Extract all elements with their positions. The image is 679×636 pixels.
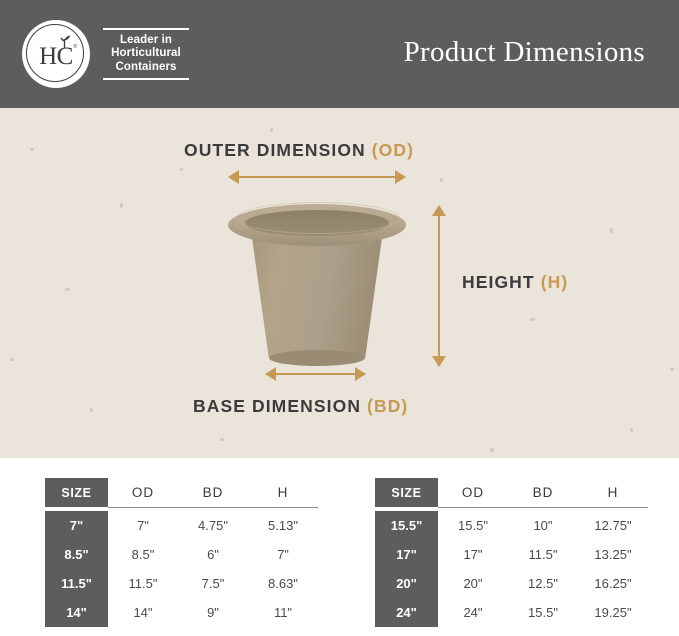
cell-h: 7"	[248, 540, 318, 569]
outer-dimension-text: OUTER DIMENSION	[184, 140, 372, 160]
table-row: 8.5" 8.5" 6" 7"	[45, 540, 318, 569]
cell-h: 8.63"	[248, 569, 318, 598]
cell-h: 5.13"	[248, 511, 318, 540]
height-text: HEIGHT	[462, 272, 541, 292]
cell-size: 20"	[375, 569, 438, 598]
cell-od: 7"	[108, 511, 178, 540]
table-row: 17" 17" 11.5" 13.25"	[375, 540, 648, 569]
table-row: 14" 14" 9" 11"	[45, 598, 318, 627]
table-row: 20" 20" 12.5" 16.25"	[375, 569, 648, 598]
cell-h: 16.25"	[578, 569, 648, 598]
brand-lockup: HC ® Leader in Horticultural Containers	[22, 20, 189, 88]
outer-dimension-arrow-icon	[228, 170, 406, 184]
table-row: 11.5" 11.5" 7.5" 8.63"	[45, 569, 318, 598]
cell-size: 14"	[45, 598, 108, 627]
cell-h: 12.75"	[578, 511, 648, 540]
cell-h: 13.25"	[578, 540, 648, 569]
height-label: HEIGHT (H)	[462, 272, 568, 293]
leaf-sprout-icon	[55, 33, 75, 54]
header-od: OD	[438, 478, 508, 507]
cell-bd: 4.75"	[178, 511, 248, 540]
tagline-line-3: Containers	[103, 61, 189, 75]
height-abbr: (H)	[541, 272, 569, 292]
cell-bd: 6"	[178, 540, 248, 569]
cell-od: 24"	[438, 598, 508, 627]
table-row: 15.5" 15.5" 10" 12.75"	[375, 511, 648, 540]
header-h: H	[578, 478, 648, 507]
cell-bd: 10"	[508, 511, 578, 540]
pot-base	[269, 350, 365, 366]
header-od: OD	[108, 478, 178, 507]
base-dimension-abbr: (BD)	[367, 396, 408, 416]
trademark-symbol: ®	[73, 44, 77, 50]
cell-size: 8.5"	[45, 540, 108, 569]
cell-bd: 7.5"	[178, 569, 248, 598]
header-bd: BD	[178, 478, 248, 507]
header-size: SIZE	[45, 478, 108, 507]
dimension-table-large-sizes: SIZE OD BD H 15.5" 15.5" 10" 12.75" 17" …	[375, 478, 648, 627]
header-size: SIZE	[375, 478, 438, 507]
base-dimension-text: BASE DIMENSION	[193, 396, 367, 416]
cell-size: 24"	[375, 598, 438, 627]
tagline-rule-bottom	[103, 78, 189, 79]
cell-od: 8.5"	[108, 540, 178, 569]
hc-logo-emblem: HC ®	[22, 20, 90, 88]
dimension-table-small-sizes: SIZE OD BD H 7" 7" 4.75" 5.13" 8.5" 8.5"	[45, 478, 318, 627]
tagline-line-2: Horticultural	[103, 47, 189, 61]
planter-pot-illustration	[228, 200, 406, 370]
outer-dimension-label: OUTER DIMENSION (OD)	[184, 140, 414, 161]
cell-h: 11"	[248, 598, 318, 627]
outer-dimension-abbr: (OD)	[372, 140, 414, 160]
tagline-line-1: Leader in	[103, 34, 189, 48]
header-h: H	[248, 478, 318, 507]
cell-bd: 15.5"	[508, 598, 578, 627]
table-row: 24" 24" 15.5" 19.25"	[375, 598, 648, 627]
cell-bd: 12.5"	[508, 569, 578, 598]
table-row: 7" 7" 4.75" 5.13"	[45, 511, 318, 540]
cell-bd: 9"	[178, 598, 248, 627]
page-title: Product Dimensions	[404, 36, 645, 69]
cell-od: 14"	[108, 598, 178, 627]
page-header: HC ® Leader in Horticultural Containers …	[0, 0, 679, 108]
dimension-tables: SIZE OD BD H 7" 7" 4.75" 5.13" 8.5" 8.5"	[0, 458, 679, 636]
cell-size: 15.5"	[375, 511, 438, 540]
cell-size: 17"	[375, 540, 438, 569]
base-dimension-label: BASE DIMENSION (BD)	[193, 396, 408, 417]
cell-od: 17"	[438, 540, 508, 569]
cell-bd: 11.5"	[508, 540, 578, 569]
base-dimension-arrow-icon	[265, 367, 366, 381]
cell-h: 19.25"	[578, 598, 648, 627]
table-header-row: SIZE OD BD H	[45, 478, 318, 507]
table-header-row: SIZE OD BD H	[375, 478, 648, 507]
height-arrow-icon	[432, 205, 446, 367]
cell-od: 11.5"	[108, 569, 178, 598]
cell-od: 15.5"	[438, 511, 508, 540]
cell-size: 11.5"	[45, 569, 108, 598]
cell-od: 20"	[438, 569, 508, 598]
brand-tagline: Leader in Horticultural Containers	[103, 25, 189, 82]
header-bd: BD	[508, 478, 578, 507]
cell-size: 7"	[45, 511, 108, 540]
pot-rim-highlight	[236, 202, 400, 234]
